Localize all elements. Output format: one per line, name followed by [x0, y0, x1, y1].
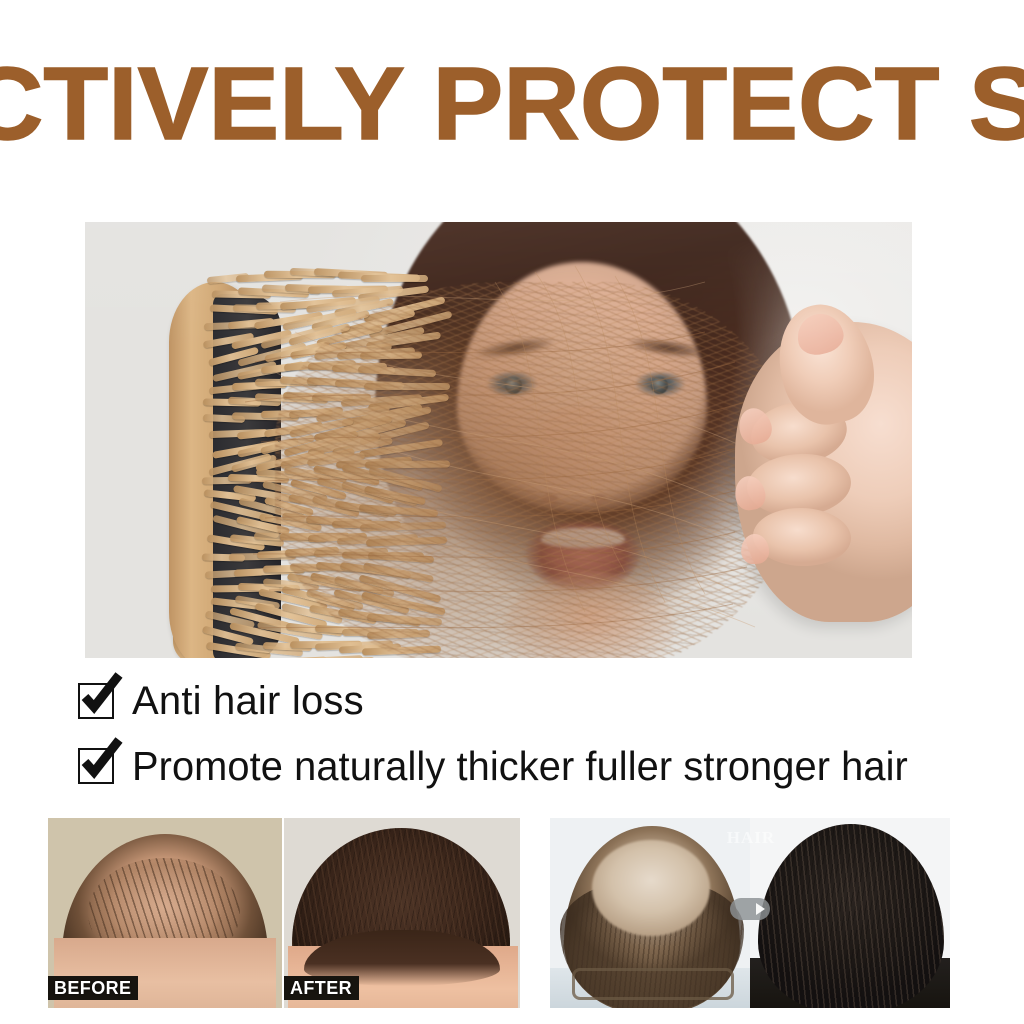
benefit-label: Anti hair loss [132, 679, 364, 723]
benefit-item-anti-hair-loss: Anti hair loss [78, 672, 958, 730]
result-photo-after-right [750, 818, 950, 1008]
product-ad-canvas: EFFECTIVELY PROTECT SCALP (function(){ v… [0, 0, 1024, 1024]
before-label: BEFORE [48, 976, 138, 1000]
scalp-hair-texture [758, 824, 944, 1008]
checkmark-icon [78, 674, 124, 718]
checked-checkbox-icon [78, 683, 114, 719]
benefit-label: Promote naturally thicker fuller stronge… [132, 744, 908, 788]
eyeglasses-icon [572, 968, 734, 1000]
benefits-list: Anti hair loss Promote naturally thicker… [78, 672, 958, 795]
result-photo-before-left: BEFORE [48, 818, 282, 1008]
scalp-bald-crown [592, 840, 710, 936]
result-photo-before-right [550, 818, 750, 1008]
before-after-gallery: BEFORE AFTER [0, 818, 1024, 1010]
after-label: AFTER [284, 976, 359, 1000]
arrow-triangle [756, 903, 765, 915]
result-photo-after-left: AFTER [284, 818, 520, 1008]
arrow-right-icon [730, 898, 770, 920]
hero-image-hair-loss: (function(){ var host=document.currentSc… [85, 222, 912, 658]
page-title: EFFECTIVELY PROTECT SCALP [3, 52, 1021, 156]
checked-checkbox-icon [78, 748, 114, 784]
checkmark-icon [78, 739, 124, 783]
benefit-item-thicker-hair: Promote naturally thicker fuller stronge… [78, 737, 958, 795]
